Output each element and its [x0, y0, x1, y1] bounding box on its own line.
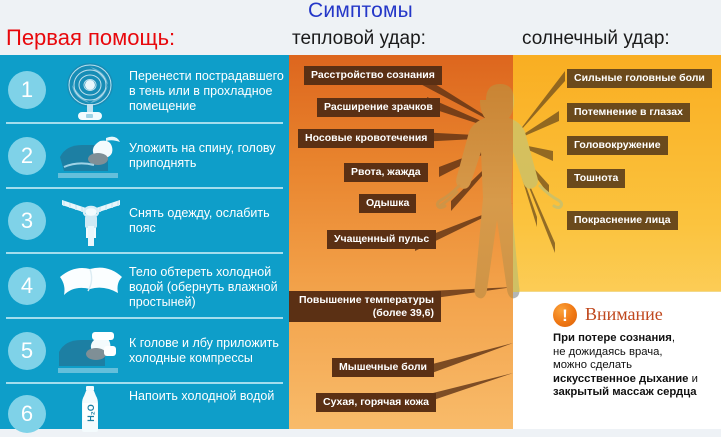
step-number-3: 3 — [8, 202, 46, 240]
warning-line-4-rest: и — [688, 373, 697, 385]
fan-icon — [56, 61, 124, 128]
warning-line-1-rest: , — [672, 332, 675, 344]
first-aid-step-1: 1 — [0, 59, 289, 123]
wet-sheet-icon — [56, 263, 124, 314]
heat-symptom-label-4: Рвота, жажда — [344, 163, 428, 182]
step-text-6: Напоить холодной водой — [129, 389, 287, 404]
step-number-5: 5 — [8, 332, 46, 370]
page-title: Симптомы — [0, 0, 721, 23]
sun-symptom-label-1: Сильные головные боли — [567, 69, 712, 88]
first-aid-heading: Первая помощь: — [6, 25, 175, 51]
zipper-icon — [56, 192, 124, 255]
first-aid-step-5: 5 К голове и лбу приложить холодные комп… — [0, 320, 289, 382]
step-number-4: 4 — [8, 267, 46, 305]
infographic-root: Симптомы Первая помощь: тепловой удар: с… — [0, 0, 721, 429]
heat-symptom-label-1: Расстройство сознания — [304, 66, 442, 85]
first-aid-step-4: 4 Тело обтереть холодной водой (обернуть… — [0, 255, 289, 317]
exclamation-icon: ! — [553, 303, 577, 327]
warning-header: ! Внимание — [553, 302, 721, 330]
sun-symptom-label-4: Тошнота — [567, 169, 625, 188]
step-separator-3 — [6, 252, 283, 254]
warning-title: Внимание — [585, 304, 663, 325]
step-text-3: Снять одежду, ослабить пояс — [129, 206, 287, 236]
warning-line-1-bold: При потере сознания — [553, 332, 672, 344]
heat-stroke-heading: тепловой удар: — [292, 28, 426, 50]
first-aid-step-3: 3 Снять одежду, ослаби — [0, 190, 289, 252]
bottle-label: H₂O — [86, 404, 96, 422]
step-separator-2 — [6, 187, 283, 189]
heat-symptom-label-9: Сухая, горячая кожа — [316, 393, 436, 412]
heat-symptom-label-6: Учащенный пульс — [327, 230, 436, 249]
sun-stroke-heading: солнечный удар: — [522, 28, 670, 50]
sun-symptom-label-5: Покраснение лица — [567, 211, 678, 230]
warning-line-4-bold: искусственное дыхание — [553, 373, 688, 385]
sun-symptom-label-2: Потемнение в глазах — [567, 103, 690, 122]
step-text-5: К голове и лбу приложить холодные компре… — [129, 336, 287, 366]
heat-stroke-panel: Расстройство сознания Расширение зрачков… — [289, 55, 513, 429]
person-lying-head-raised-icon — [56, 129, 124, 186]
warning-line-2: не дожидаясь врача, — [553, 346, 663, 358]
step-separator-4 — [6, 317, 283, 319]
cold-compress-icon — [56, 326, 124, 381]
step-text-4: Тело обтереть холодной водой (обернуть в… — [129, 265, 287, 310]
heat-symptom-label-5: Одышка — [359, 194, 416, 213]
heat-symptom-label-8: Мышечные боли — [332, 358, 434, 377]
header: Симптомы Первая помощь: тепловой удар: с… — [0, 0, 721, 55]
warning-box: ! Внимание При потере сознания, не дожид… — [553, 302, 721, 400]
sun-symptom-label-3: Головокружение — [567, 136, 668, 155]
warning-line-3: можно сделать — [553, 359, 632, 371]
step-number-1: 1 — [8, 71, 46, 109]
step-text-2: Уложить на спину, голову приподнять — [129, 141, 287, 171]
first-aid-step-6: 6 H₂O Напоить холодной водой — [0, 385, 289, 429]
heat-symptom-label-7: Повышение температуры (более 39,6) — [289, 291, 441, 322]
step-text-1: Перенести пострадавшего в тень или в про… — [129, 69, 287, 114]
step-number-6: 6 — [8, 395, 46, 433]
heat-symptom-label-3: Носовые кровотечения — [298, 129, 434, 148]
step-number-2: 2 — [8, 137, 46, 175]
water-bottle-icon: H₂O — [56, 384, 124, 437]
first-aid-step-2: 2 Уложить на спину, голову приподнять — [0, 125, 289, 187]
heat-symptom-label-2: Расширение зрачков — [317, 98, 440, 117]
warning-line-5-bold: закрытый массаж сердца — [553, 386, 697, 398]
step-separator-1 — [6, 122, 283, 124]
warning-text: При потере сознания, не дожидаясь врача,… — [553, 332, 721, 400]
step-separator-5 — [6, 382, 283, 384]
first-aid-panel: 1 — [0, 55, 289, 429]
